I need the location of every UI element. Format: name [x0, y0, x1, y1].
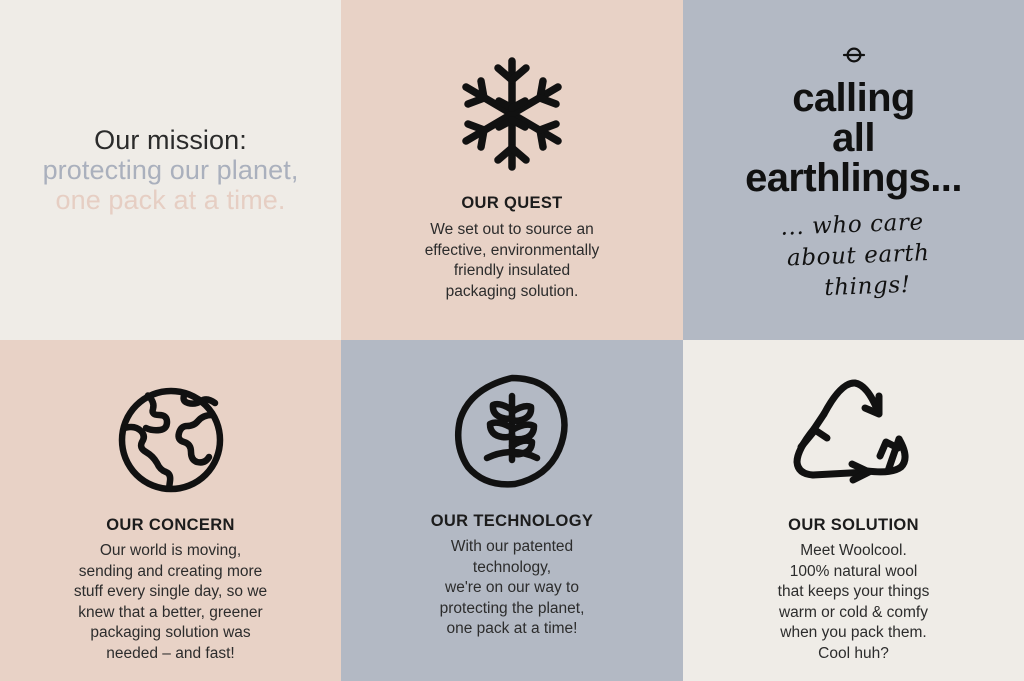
planet-symbol-icon — [841, 42, 867, 68]
mission-line-3: one pack at a time. — [55, 185, 285, 215]
solution-heading: OUR SOLUTION — [788, 516, 919, 535]
calling-script-line-1: ... who care — [780, 209, 924, 240]
technology-body: With our patented technology, we're on o… — [440, 537, 585, 640]
panel-solution: OUR SOLUTION Meet Woolcool. 100% natural… — [683, 340, 1024, 681]
panel-calling-all-earthlings: calling all earthlings... ... who care a… — [683, 0, 1024, 340]
calling-headline-line-1: calling — [792, 78, 915, 118]
globe-icon — [115, 384, 227, 496]
technology-heading: OUR TECHNOLOGY — [431, 512, 594, 531]
mission-line-1: Our mission: — [94, 125, 247, 155]
calling-script-line-3: things! — [804, 269, 932, 305]
recycle-icon — [791, 374, 917, 490]
quest-heading: OUR QUEST — [461, 194, 562, 213]
concern-heading: OUR CONCERN — [106, 516, 235, 535]
panel-concern: OUR CONCERN Our world is moving, sending… — [0, 340, 341, 681]
poster-grid: Our mission: protecting our planet, one … — [0, 0, 1024, 681]
panel-quest: OUR QUEST We set out to source an effect… — [341, 0, 683, 340]
panel-technology: OUR TECHNOLOGY With our patented technol… — [341, 340, 683, 681]
mission-line-2: protecting our planet, — [43, 155, 299, 185]
concern-body: Our world is moving, sending and creatin… — [74, 541, 267, 664]
calling-script-block: ... who care about earth things! — [775, 207, 931, 306]
quest-body: We set out to source an effective, envir… — [425, 220, 600, 302]
calling-headline-line-3: earthlings... — [745, 158, 962, 198]
panel-mission: Our mission: protecting our planet, one … — [0, 0, 341, 340]
solution-body: Meet Woolcool. 100% natural wool that ke… — [778, 541, 930, 664]
calling-headline-line-2: all — [832, 118, 875, 158]
plant-in-circle-icon — [453, 372, 571, 490]
snowflake-icon — [459, 56, 565, 172]
